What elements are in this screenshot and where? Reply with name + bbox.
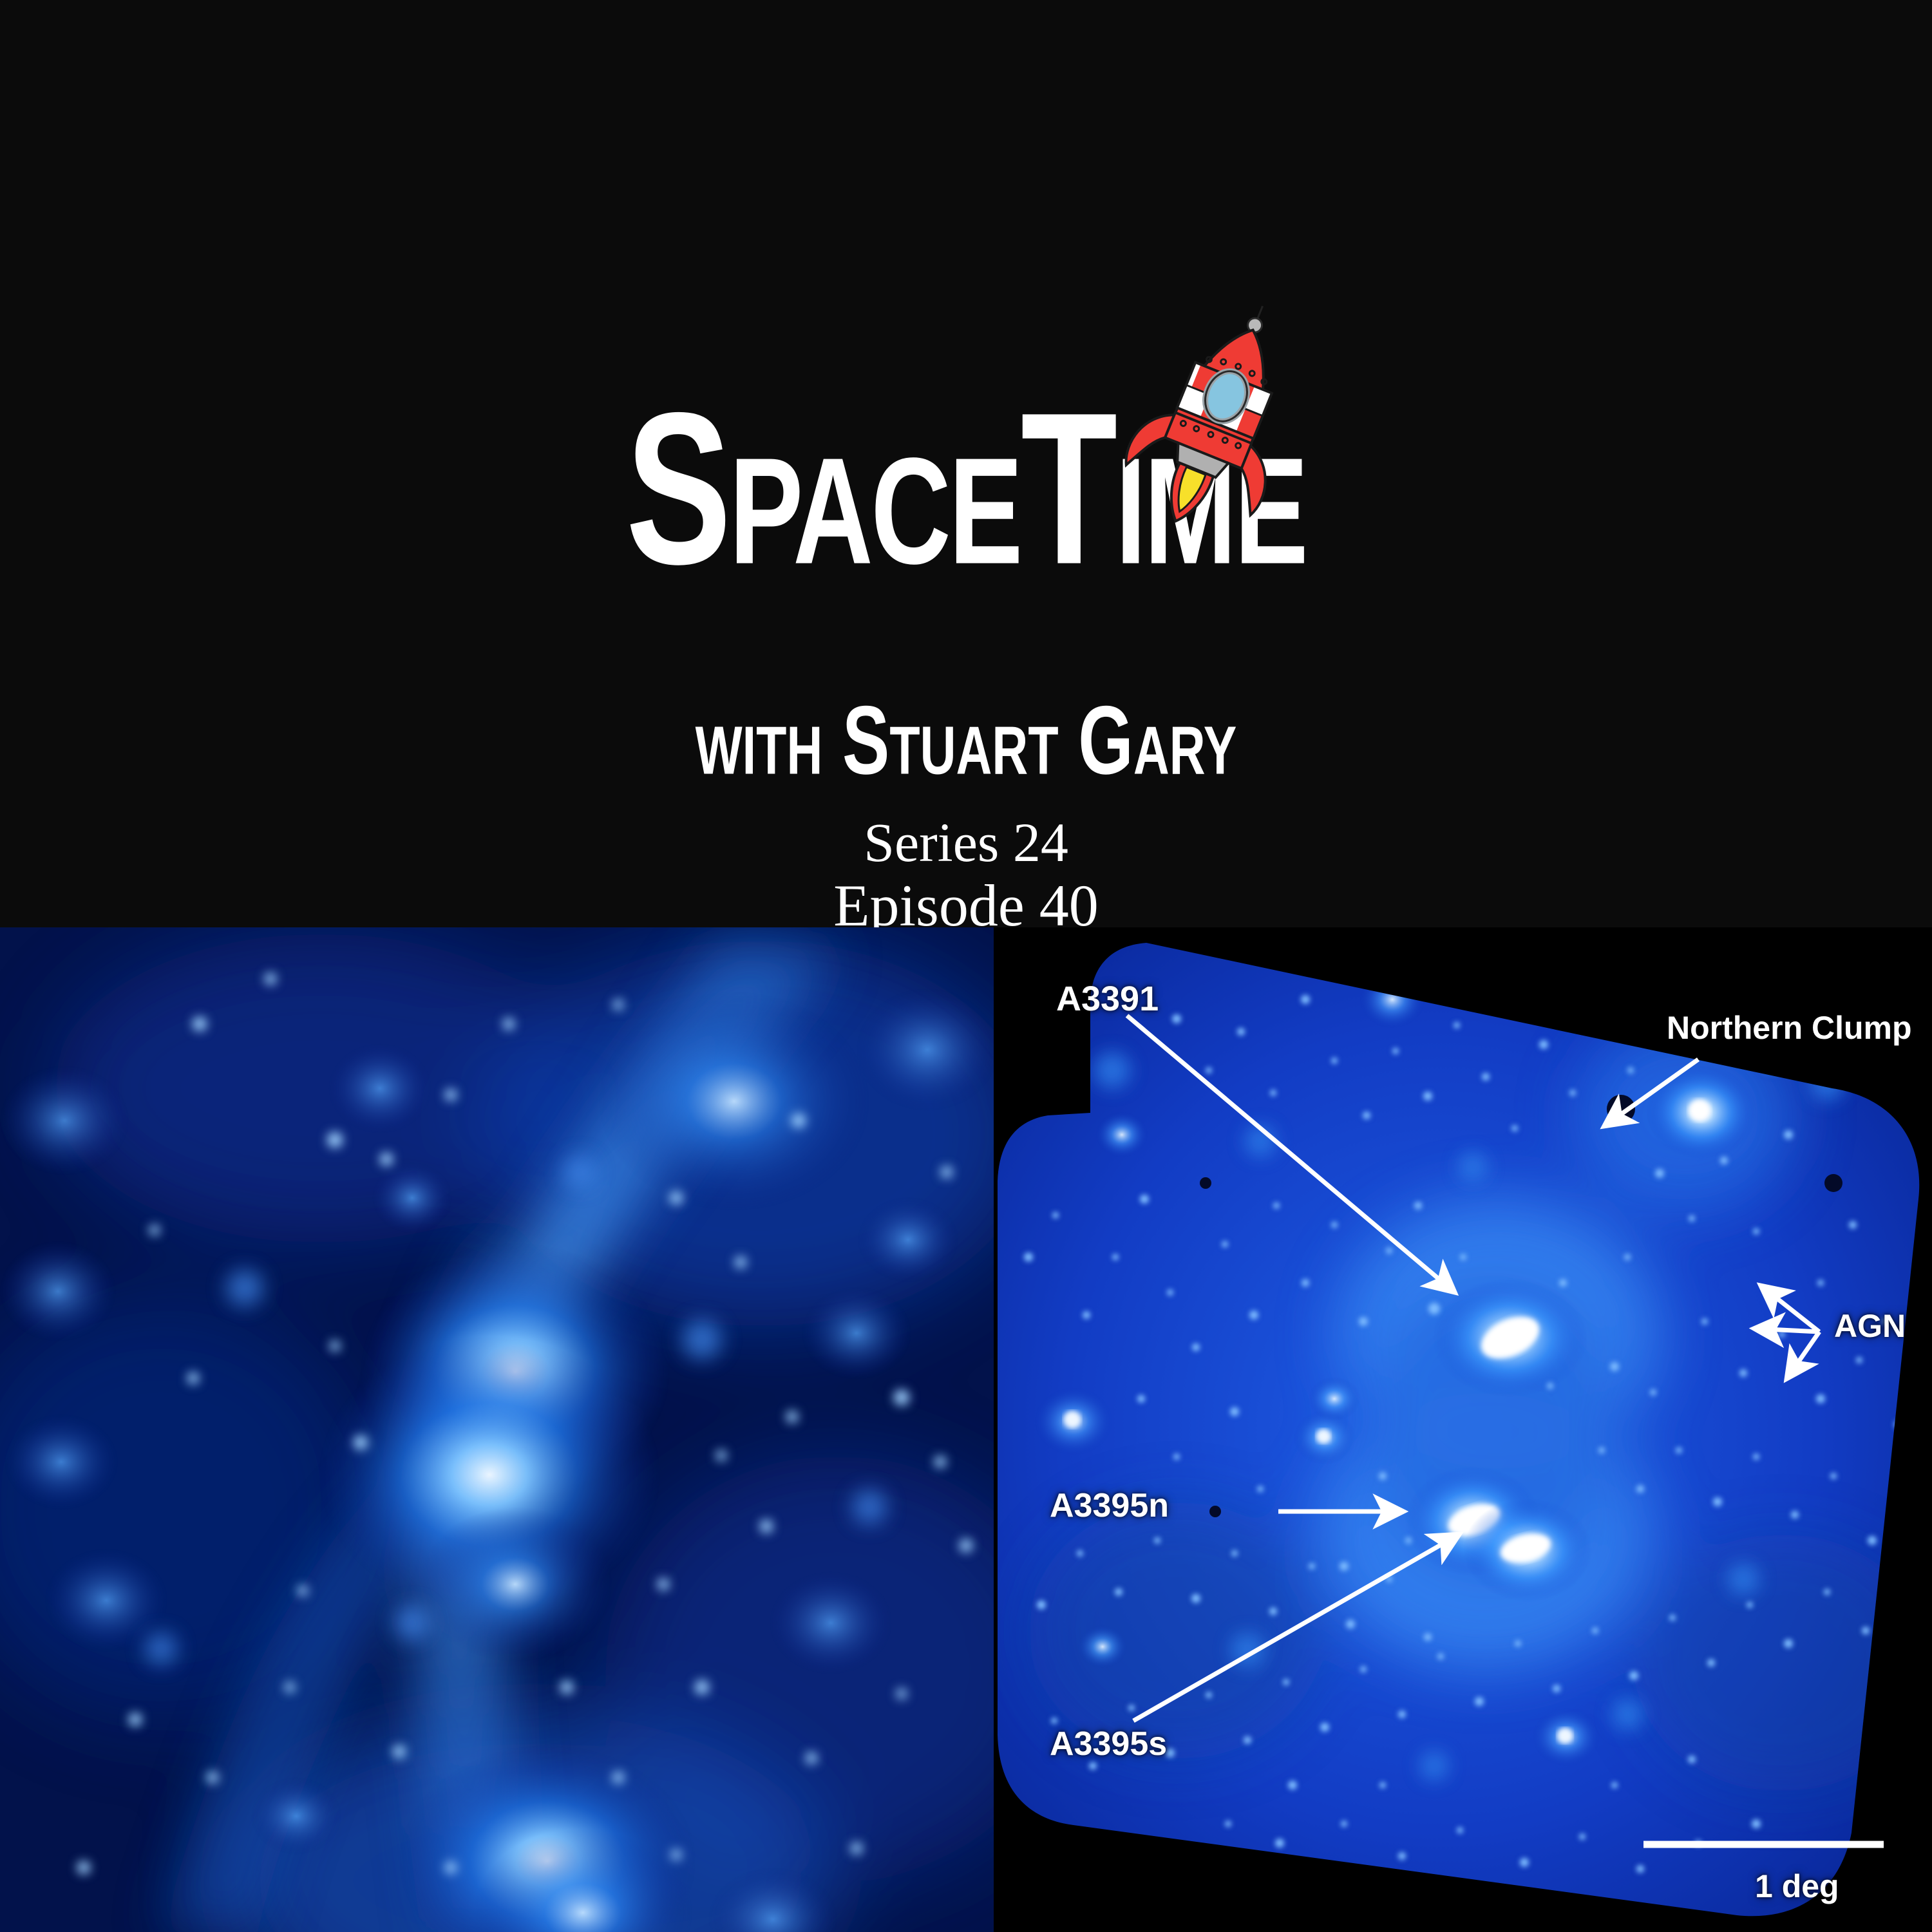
scale-bar-label: 1 deg <box>1755 1868 1839 1905</box>
label-agn: AGN <box>1834 1307 1906 1345</box>
episode-label: Episode 40 <box>0 876 1932 927</box>
header-block: SpaceTime with Stuart Gary <box>0 0 1932 927</box>
page-title: SpaceTime <box>174 380 1758 596</box>
label-a3391: A3391 <box>1056 979 1159 1019</box>
label-a3395n: A3395n <box>1050 1486 1169 1525</box>
host-subtitle: with Stuart Gary <box>135 692 1797 790</box>
cosmological-simulation-image <box>0 927 994 1932</box>
podcast-cover-art: SpaceTime with Stuart Gary <box>0 0 1932 1932</box>
brand-block: SpaceTime with Stuart Gary <box>0 0 1932 927</box>
label-northern-clump: Northern Clump <box>1667 1009 1912 1046</box>
artwork-strip <box>0 927 1932 1932</box>
series-label: Series 24 <box>0 815 1932 870</box>
erosita-xray-image <box>994 927 1932 1932</box>
rocket-icon <box>1122 303 1315 528</box>
label-a3395s: A3395s <box>1050 1725 1167 1763</box>
